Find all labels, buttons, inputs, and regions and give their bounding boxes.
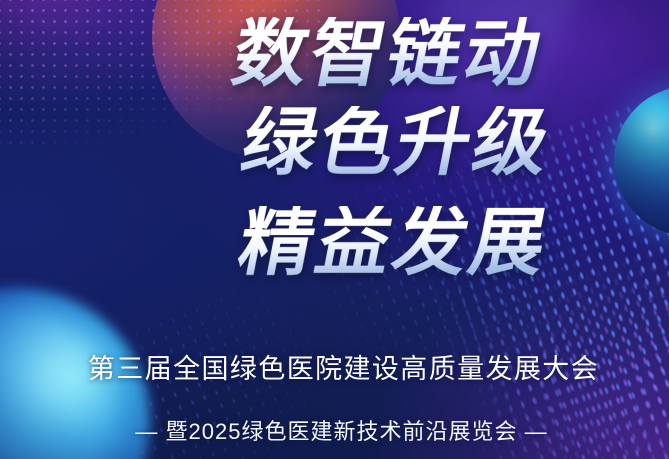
headline-group: 数智链动 绿色升级 精益发展 — [0, 0, 669, 320]
conference-poster-banner: 数智链动 绿色升级 精益发展 第三届全国绿色医院建设高质量发展大会 — 暨202… — [0, 0, 669, 459]
headline-line-2: 绿色升级 — [236, 106, 558, 180]
conference-name: 第三届全国绿色医院建设高质量发展大会 — [88, 347, 599, 386]
exhibition-name: — 暨2025绿色医建新技术前沿展览会 — — [135, 414, 547, 446]
headline-line-3: 精益发展 — [233, 206, 555, 280]
headline-line-1: 数智链动 — [227, 17, 549, 91]
subtitle-group: 第三届全国绿色医院建设高质量发展大会 — 暨2025绿色医建新技术前沿展览会 — — [0, 329, 669, 459]
